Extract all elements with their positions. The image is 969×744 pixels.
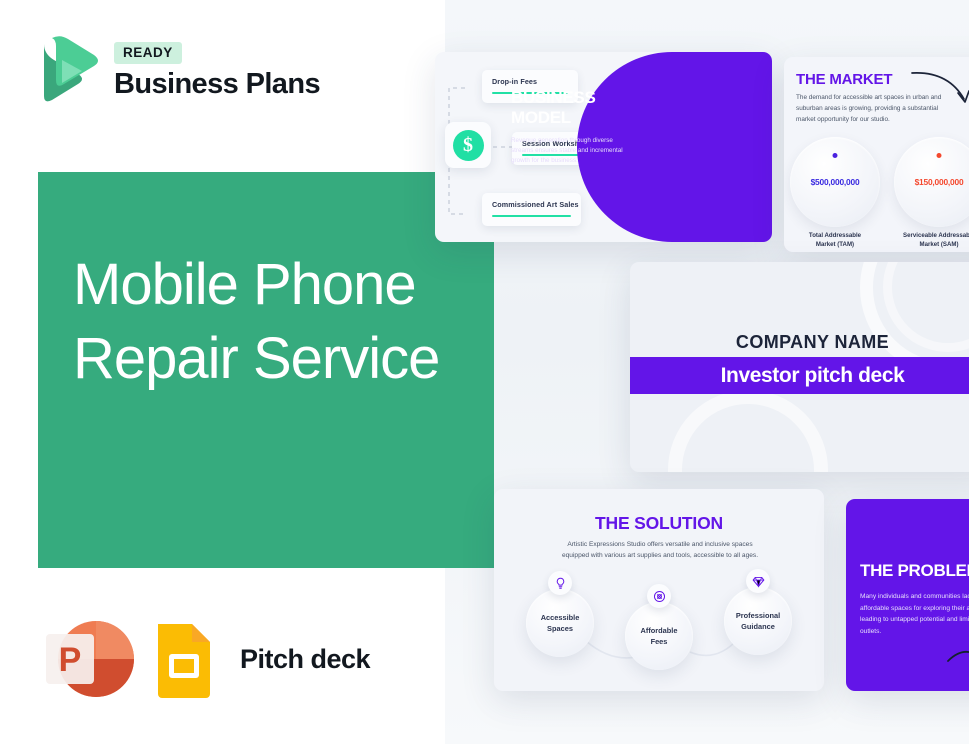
market-title: THE MARKET — [796, 71, 892, 88]
item-label: Commissioned Art Sales — [492, 200, 571, 209]
caption-line-1: Total Addressable — [790, 232, 880, 241]
solution-pillar[interactable]: Affordable Fees — [625, 602, 693, 670]
svg-text:P: P — [59, 641, 82, 679]
filetype-row: P Pitch deck — [40, 616, 370, 702]
pillar-label-line-1: Professional — [736, 611, 780, 620]
title-line-1: BUSINESS — [511, 88, 631, 108]
dollar-sign-icon: $ — [445, 122, 491, 168]
caption-line-2: Market (SAM) — [894, 241, 969, 250]
filetype-label: Pitch deck — [240, 644, 370, 675]
pillar-label-line-2: Spaces — [547, 624, 573, 633]
problem-title: THE PROBLEM — [860, 561, 969, 581]
problem-description: Many individuals and communities lack ac… — [860, 591, 969, 637]
caption-line-2: Market (TAM) — [790, 241, 880, 250]
pillar-label-line-2: Guidance — [741, 622, 775, 631]
pitch-deck-subtitle: Investor pitch deck — [721, 364, 905, 388]
poster-canvas: READY Business Plans Mobile Phone Repair… — [0, 0, 969, 744]
brand-name: Business Plans — [114, 68, 320, 101]
google-slides-icon — [154, 620, 214, 698]
solution-pillar[interactable]: Professional Guidance — [724, 587, 792, 655]
market-metric: $150,000,000 Serviceable Addressable Mar… — [894, 137, 969, 250]
metric-dot — [937, 153, 942, 158]
slide-the-market[interactable]: THE MARKET The demand for accessible art… — [784, 57, 969, 252]
pillar-label: Accessible Spaces — [541, 612, 580, 634]
squiggle-line-icon — [946, 643, 969, 669]
business-model-item[interactable]: Commissioned Art Sales — [482, 193, 581, 226]
compass-circle-icon — [647, 584, 671, 608]
pillar-label-line-2: Fees — [651, 637, 668, 646]
pillar-label-line-1: Accessible — [541, 613, 580, 622]
curved-arrow-icon — [910, 65, 969, 111]
metric-ring: $500,000,000 — [790, 137, 880, 227]
page-title: Mobile Phone Repair Service — [73, 248, 493, 395]
pillar-label-line-1: Affordable — [641, 626, 678, 635]
ready-badge: READY — [114, 42, 182, 64]
caption-line-1: Serviceable Addressable — [894, 232, 969, 241]
brand-text: READY Business Plans — [114, 40, 320, 101]
dollar-symbol: $ — [453, 130, 484, 161]
solution-pillar[interactable]: Accessible Spaces — [526, 589, 594, 657]
pitch-deck-band: Investor pitch deck — [630, 357, 969, 394]
metric-dot — [833, 153, 838, 158]
market-metric: $500,000,000 Total Addressable Market (T… — [790, 137, 880, 250]
hero-title-line-2: Repair Service — [73, 322, 493, 396]
decorative-circle — [668, 390, 828, 472]
pillar-label: Professional Guidance — [736, 610, 780, 632]
metric-caption: Serviceable Addressable Market (SAM) — [894, 232, 969, 250]
slide-business-model[interactable]: $ Drop-in Fees Session Workshops Commiss… — [435, 52, 772, 242]
metric-value: $150,000,000 — [915, 177, 964, 187]
item-underline — [492, 215, 571, 217]
slide-the-solution[interactable]: THE SOLUTION Artistic Expressions Studio… — [494, 489, 824, 691]
lightbulb-icon — [548, 571, 572, 595]
slide-the-problem[interactable]: THE PROBLEM Many individuals and communi… — [846, 499, 969, 691]
business-model-description: Revenue generation through diverse strea… — [511, 136, 623, 167]
powerpoint-icon: P — [40, 616, 136, 702]
hero-title-line-1: Mobile Phone — [73, 248, 493, 322]
company-name: COMPANY NAME — [630, 332, 969, 353]
diamond-icon — [746, 569, 770, 593]
metric-caption: Total Addressable Market (TAM) — [790, 232, 880, 250]
hero-green-panel: Mobile Phone Repair Service — [38, 172, 494, 568]
brand-lockup: READY Business Plans — [38, 34, 320, 106]
item-label: Drop-in Fees — [492, 77, 568, 86]
slide-company-name[interactable]: COMPANY NAME Investor pitch deck — [630, 262, 969, 472]
metric-ring: $150,000,000 — [894, 137, 969, 227]
pillar-label: Affordable Fees — [641, 625, 678, 647]
solution-description: Artistic Expressions Studio offers versa… — [560, 539, 760, 562]
title-line-2: MODEL — [511, 108, 631, 128]
metric-value: $500,000,000 — [811, 177, 860, 187]
business-model-title: BUSINESS MODEL — [511, 88, 631, 127]
play-triangle-logo-icon — [38, 34, 100, 106]
market-metrics: $500,000,000 Total Addressable Market (T… — [790, 137, 969, 250]
solution-title: THE SOLUTION — [494, 513, 824, 534]
